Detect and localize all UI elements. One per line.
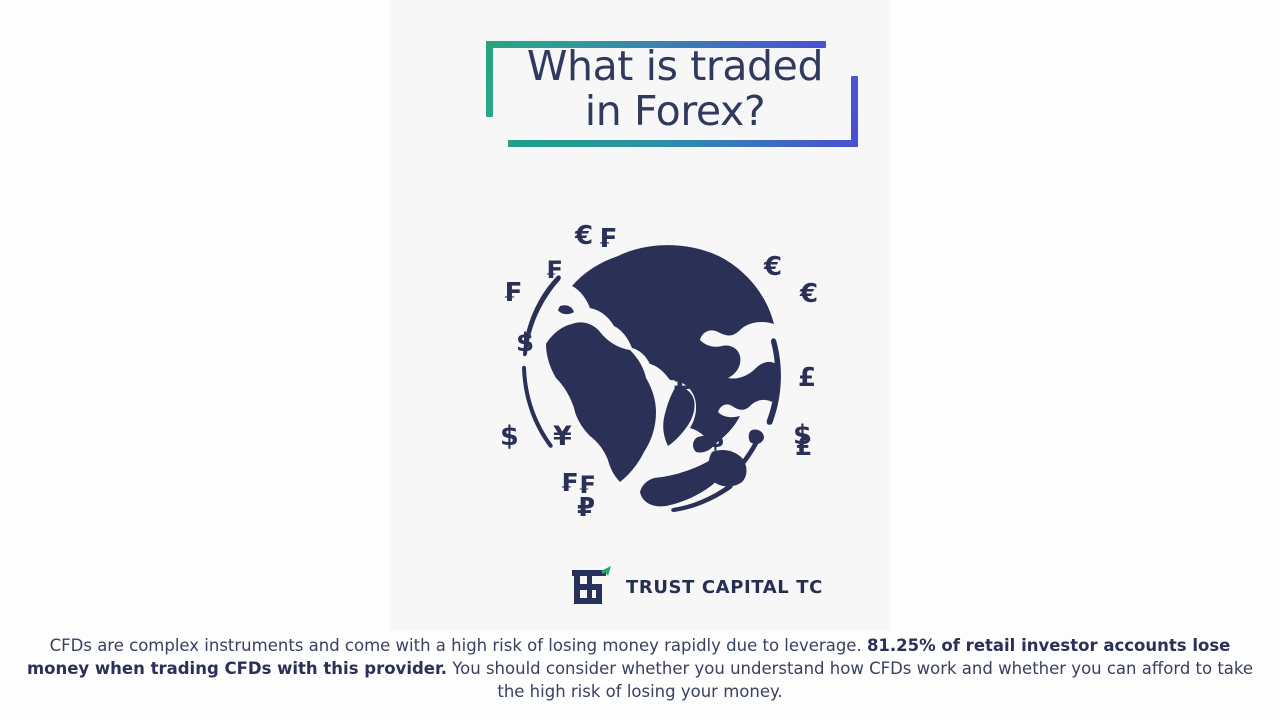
pound-symbol: £: [673, 368, 691, 394]
euro-symbol: €: [575, 223, 593, 249]
frame-bottom-line: [508, 140, 858, 147]
franc-symbol: ₣: [598, 226, 616, 252]
title-line-1: What is traded: [527, 42, 823, 90]
title-block: What is traded in Forex?: [480, 36, 870, 154]
slide-canvas: What is traded in Forex?: [0, 0, 1280, 720]
title-line-2: in Forex?: [480, 89, 870, 134]
risk-disclaimer: CFDs are complex instruments and come wi…: [20, 634, 1260, 703]
pound-symbol: £: [798, 365, 816, 391]
dollar-symbol: $: [516, 330, 534, 356]
franc-symbol: ₣: [503, 280, 521, 306]
franc-symbol: ₣: [560, 470, 577, 495]
dollar-symbol: $: [706, 425, 725, 452]
franc-symbol: ₣: [545, 258, 562, 282]
globe-graphic: [440, 200, 840, 540]
page-title: What is traded in Forex?: [480, 44, 870, 134]
euro-symbol: €: [764, 254, 782, 280]
dollar-symbol: $: [500, 423, 519, 450]
pound-symbol: £: [795, 434, 812, 459]
yen-symbol: ¥: [553, 423, 572, 450]
trust-capital-tc-logo[interactable]: TRUST CAPITAL TC: [570, 562, 823, 612]
disclaimer-part-1: CFDs are complex instruments and come wi…: [50, 636, 867, 655]
ruble-symbol: ₽: [577, 495, 595, 521]
euro-symbol: €: [800, 281, 818, 307]
logo-mark-icon: [570, 564, 616, 610]
logo-wordmark: TRUST CAPITAL TC: [626, 577, 823, 598]
disclaimer-part-2: You should consider whether you understa…: [447, 659, 1253, 701]
